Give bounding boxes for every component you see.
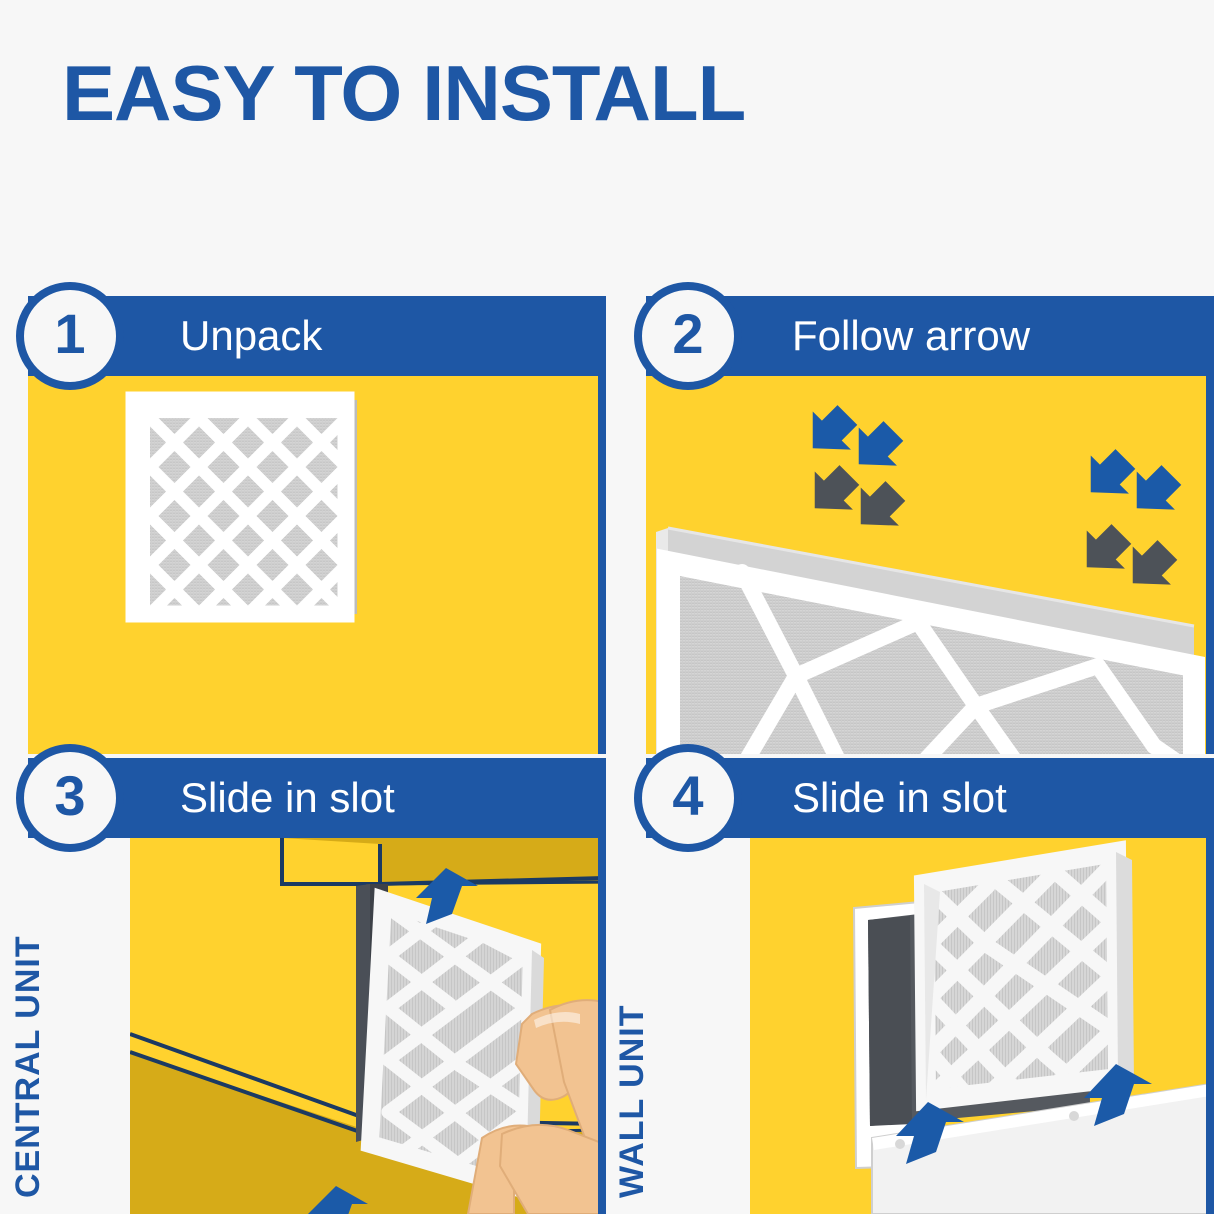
step-2-illustration <box>646 376 1214 754</box>
column-divider-bottom <box>598 758 606 1214</box>
column-divider-top <box>598 296 606 754</box>
step-4-label: Slide in slot <box>792 777 1007 819</box>
step-card-3: Slide in slot 3 CENTRAL UNIT <box>0 758 604 1214</box>
arrow-up-blue-right <box>1072 440 1190 528</box>
step-card-2: Follow arrow 2 <box>618 296 1214 754</box>
step-4-number: 4 <box>672 768 703 824</box>
infographic-page: EASY TO INSTALL <box>0 0 1214 1214</box>
step-4-side-label: WALL UNIT <box>613 1005 652 1198</box>
steps-grid: Unpack 1 <box>0 296 1214 1214</box>
step-card-1: Unpack 1 <box>0 296 604 754</box>
step-1-number-badge: 1 <box>16 282 124 390</box>
arrow-up-gray-right <box>1068 515 1186 603</box>
hand-lower <box>468 1125 604 1214</box>
step-3-number-badge: 3 <box>16 744 124 852</box>
step-2-label: Follow arrow <box>792 315 1030 357</box>
step-1-label: Unpack <box>180 315 322 357</box>
step-3-illustration <box>130 838 604 1214</box>
air-filter-tilted-icon <box>646 376 1214 754</box>
wall-unit-insert-icon <box>750 838 1214 1214</box>
arrow-up-blue <box>794 396 912 484</box>
arrow-up-gray <box>796 456 914 544</box>
step-1-number: 1 <box>54 306 85 362</box>
right-edge-divider-bottom <box>1206 758 1214 1214</box>
central-unit-insert-icon <box>130 838 604 1214</box>
step-2-number: 2 <box>672 306 703 362</box>
step-3-number: 3 <box>54 768 85 824</box>
step-3-side-label: CENTRAL UNIT <box>9 935 48 1198</box>
step-4-illustration <box>750 838 1214 1214</box>
step-card-4: Slide in slot 4 WALL UNIT <box>618 758 1214 1214</box>
step-3-label: Slide in slot <box>180 777 395 819</box>
step-4-number-badge: 4 <box>634 744 742 852</box>
step-2-number-badge: 2 <box>634 282 742 390</box>
step-1-illustration <box>28 376 604 754</box>
page-title: EASY TO INSTALL <box>62 54 745 132</box>
air-filter-front-icon <box>28 376 604 754</box>
right-edge-divider-top <box>1206 296 1214 754</box>
